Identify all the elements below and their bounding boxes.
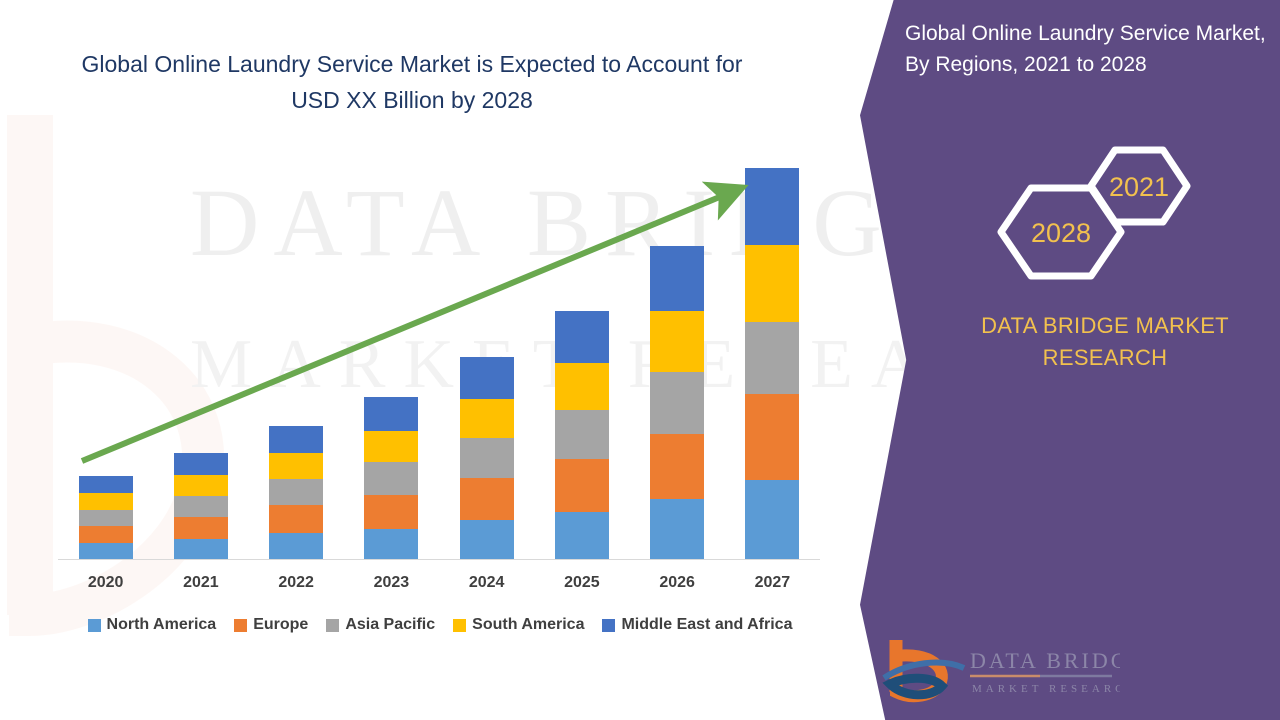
bar-segment (745, 394, 799, 480)
legend-label: North America (107, 616, 217, 634)
legend-item[interactable]: Europe (234, 616, 308, 634)
bar-segment (650, 246, 704, 311)
legend-label: South America (472, 616, 584, 634)
bar-2026 (650, 246, 704, 560)
chart-title: Global Online Laundry Service Market is … (62, 46, 762, 118)
bar-segment (650, 372, 704, 434)
legend-swatch (326, 619, 339, 632)
x-axis-label-2021: 2021 (161, 574, 241, 592)
legend-item[interactable]: Middle East and Africa (602, 616, 792, 634)
bar-2025 (555, 311, 609, 560)
chart-legend: North AmericaEuropeAsia PacificSouth Ame… (0, 616, 880, 634)
x-axis-label-2027: 2027 (732, 574, 812, 592)
plot-area (58, 140, 820, 560)
bar-segment (174, 517, 228, 539)
bar-segment (364, 431, 418, 463)
x-axis-label-2024: 2024 (447, 574, 527, 592)
bar-segment (460, 399, 514, 438)
x-axis-labels: 20202021202220232024202520262027 (58, 574, 820, 600)
bar-2021 (174, 453, 228, 560)
bar-segment (460, 438, 514, 478)
bar-segment (364, 397, 418, 431)
bar-segment (174, 453, 228, 475)
x-axis-label-2022: 2022 (256, 574, 336, 592)
bar-segment (79, 510, 133, 527)
bar-segment (650, 311, 704, 372)
year-hexagons: 2028 2021 (985, 140, 1280, 315)
bar-segment (269, 505, 323, 532)
bar-segment (79, 476, 133, 493)
bar-segment (650, 434, 704, 499)
logo-title-text: DATA BRIDGE (970, 648, 1120, 673)
bar-segment (460, 357, 514, 399)
x-axis-line (58, 559, 820, 560)
brand-name-line2: RESEARCH (940, 342, 1270, 374)
bar-segment (650, 499, 704, 560)
hexagon-2028-label: 2028 (1031, 218, 1091, 248)
bar-segment (269, 426, 323, 453)
bar-segment (555, 311, 609, 362)
x-axis-label-2023: 2023 (351, 574, 431, 592)
bar-segment (460, 478, 514, 520)
bar-segment (174, 539, 228, 560)
bar-2027 (745, 168, 799, 560)
legend-swatch (88, 619, 101, 632)
bar-segment (269, 479, 323, 505)
bar-segment (174, 496, 228, 517)
bar-segment (745, 168, 799, 245)
bar-segment (269, 533, 323, 560)
bar-segment (269, 453, 323, 479)
legend-label: Asia Pacific (345, 616, 435, 634)
bar-segment (79, 526, 133, 543)
bar-segment (364, 495, 418, 529)
brand-name-line1: DATA BRIDGE MARKET (940, 310, 1270, 342)
report-subtitle: Global Online Laundry Service Market, By… (905, 18, 1280, 80)
logo-subtitle-text: MARKET RESEARCH (972, 683, 1120, 695)
hexagon-2021-label: 2021 (1109, 172, 1169, 202)
brand-name: DATA BRIDGE MARKET RESEARCH (940, 310, 1270, 374)
bar-segment (364, 529, 418, 561)
legend-swatch (453, 619, 466, 632)
bar-segment (364, 462, 418, 495)
bar-2024 (460, 357, 514, 560)
legend-label: Middle East and Africa (621, 616, 792, 634)
bar-segment (460, 520, 514, 560)
x-axis-label-2020: 2020 (66, 574, 146, 592)
legend-swatch (602, 619, 615, 632)
bar-segment (555, 459, 609, 512)
x-axis-label-2026: 2026 (637, 574, 717, 592)
bar-segment (79, 543, 133, 560)
chart-panel: DATA BRIDGE MARKET RESEARCH Global Onlin… (0, 0, 900, 720)
bar-segment (745, 245, 799, 322)
bar-segment (555, 512, 609, 560)
bar-2022 (269, 426, 323, 560)
legend-item[interactable]: Asia Pacific (326, 616, 435, 634)
infographic-canvas: DATA BRIDGE MARKET RESEARCH Global Onlin… (0, 0, 1280, 720)
bar-segment (555, 410, 609, 459)
bar-2020 (79, 476, 133, 560)
legend-label: Europe (253, 616, 308, 634)
legend-item[interactable]: North America (88, 616, 217, 634)
company-logo: DATA BRIDGE MARKET RESEARCH (880, 634, 1120, 706)
x-axis-label-2025: 2025 (542, 574, 622, 592)
bar-segment (745, 480, 799, 560)
bar-segment (745, 322, 799, 394)
bar-segment (555, 363, 609, 410)
bar-segment (79, 493, 133, 510)
bar-segment (174, 475, 228, 496)
legend-swatch (234, 619, 247, 632)
bar-2023 (364, 397, 418, 560)
legend-item[interactable]: South America (453, 616, 584, 634)
